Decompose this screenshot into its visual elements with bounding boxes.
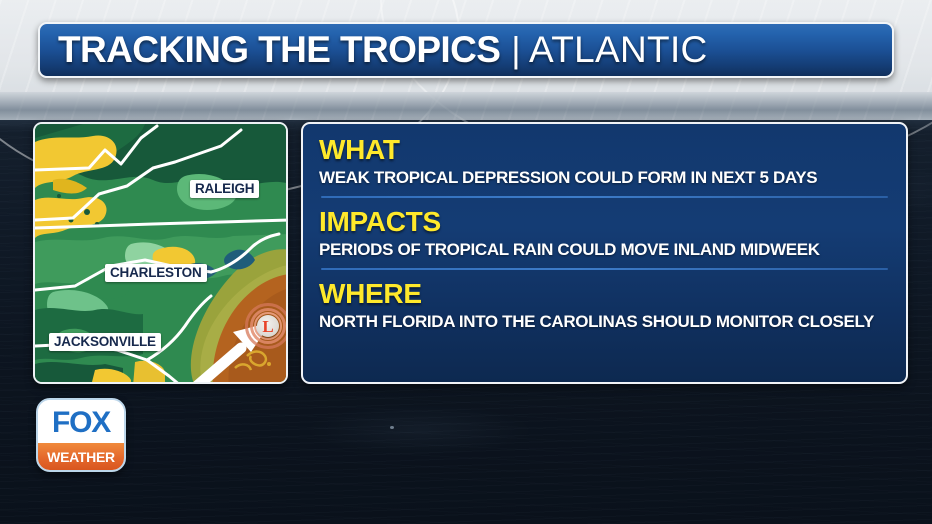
info-section-what: WHAT WEAK TROPICAL DEPRESSION COULD FORM… bbox=[319, 136, 890, 187]
low-pressure-letter: L bbox=[262, 318, 273, 335]
pressure-core: L bbox=[257, 315, 279, 337]
info-heading-where: WHERE bbox=[319, 280, 890, 308]
page-title: TRACKING THE TROPICS | ATLANTIC bbox=[58, 29, 708, 71]
forecast-info-panel: WHAT WEAK TROPICAL DEPRESSION COULD FORM… bbox=[301, 122, 908, 384]
fox-weather-logo[interactable]: FOX WEATHER bbox=[36, 398, 126, 472]
section-divider bbox=[321, 268, 888, 270]
city-label-jacksonville: JACKSONVILLE bbox=[49, 333, 161, 351]
logo-subbrand-area: WEATHER bbox=[38, 443, 124, 470]
title-main-text: TRACKING THE TROPICS bbox=[58, 29, 500, 71]
low-pressure-marker-northeast[interactable]: L bbox=[245, 303, 288, 349]
title-sub-text: ATLANTIC bbox=[529, 29, 708, 71]
water-droplet bbox=[390, 426, 394, 429]
info-heading-what: WHAT bbox=[319, 136, 890, 164]
section-divider bbox=[321, 196, 888, 198]
title-bar: TRACKING THE TROPICS | ATLANTIC bbox=[38, 22, 894, 78]
info-section-where: WHERE NORTH FLORIDA INTO THE CAROLINAS S… bbox=[319, 280, 890, 331]
info-body-impacts: PERIODS OF TROPICAL RAIN COULD MOVE INLA… bbox=[319, 240, 890, 259]
logo-brand-text: FOX bbox=[52, 408, 110, 438]
city-label-charleston: CHARLESTON bbox=[105, 264, 207, 282]
title-separator: | bbox=[511, 29, 520, 71]
logo-brand-area: FOX bbox=[38, 400, 124, 443]
radar-map-canvas: RALEIGH CHARLESTON JACKSONVILLE L L bbox=[35, 124, 286, 382]
info-body-where: NORTH FLORIDA INTO THE CAROLINAS SHOULD … bbox=[319, 312, 890, 331]
city-label-raleigh: RALEIGH bbox=[190, 180, 259, 198]
radar-map-panel[interactable]: RALEIGH CHARLESTON JACKSONVILLE L L bbox=[33, 122, 288, 384]
info-body-what: WEAK TROPICAL DEPRESSION COULD FORM IN N… bbox=[319, 168, 890, 187]
info-section-impacts: IMPACTS PERIODS OF TROPICAL RAIN COULD M… bbox=[319, 208, 890, 259]
logo-subbrand-text: WEATHER bbox=[47, 450, 115, 464]
info-heading-impacts: IMPACTS bbox=[319, 208, 890, 236]
